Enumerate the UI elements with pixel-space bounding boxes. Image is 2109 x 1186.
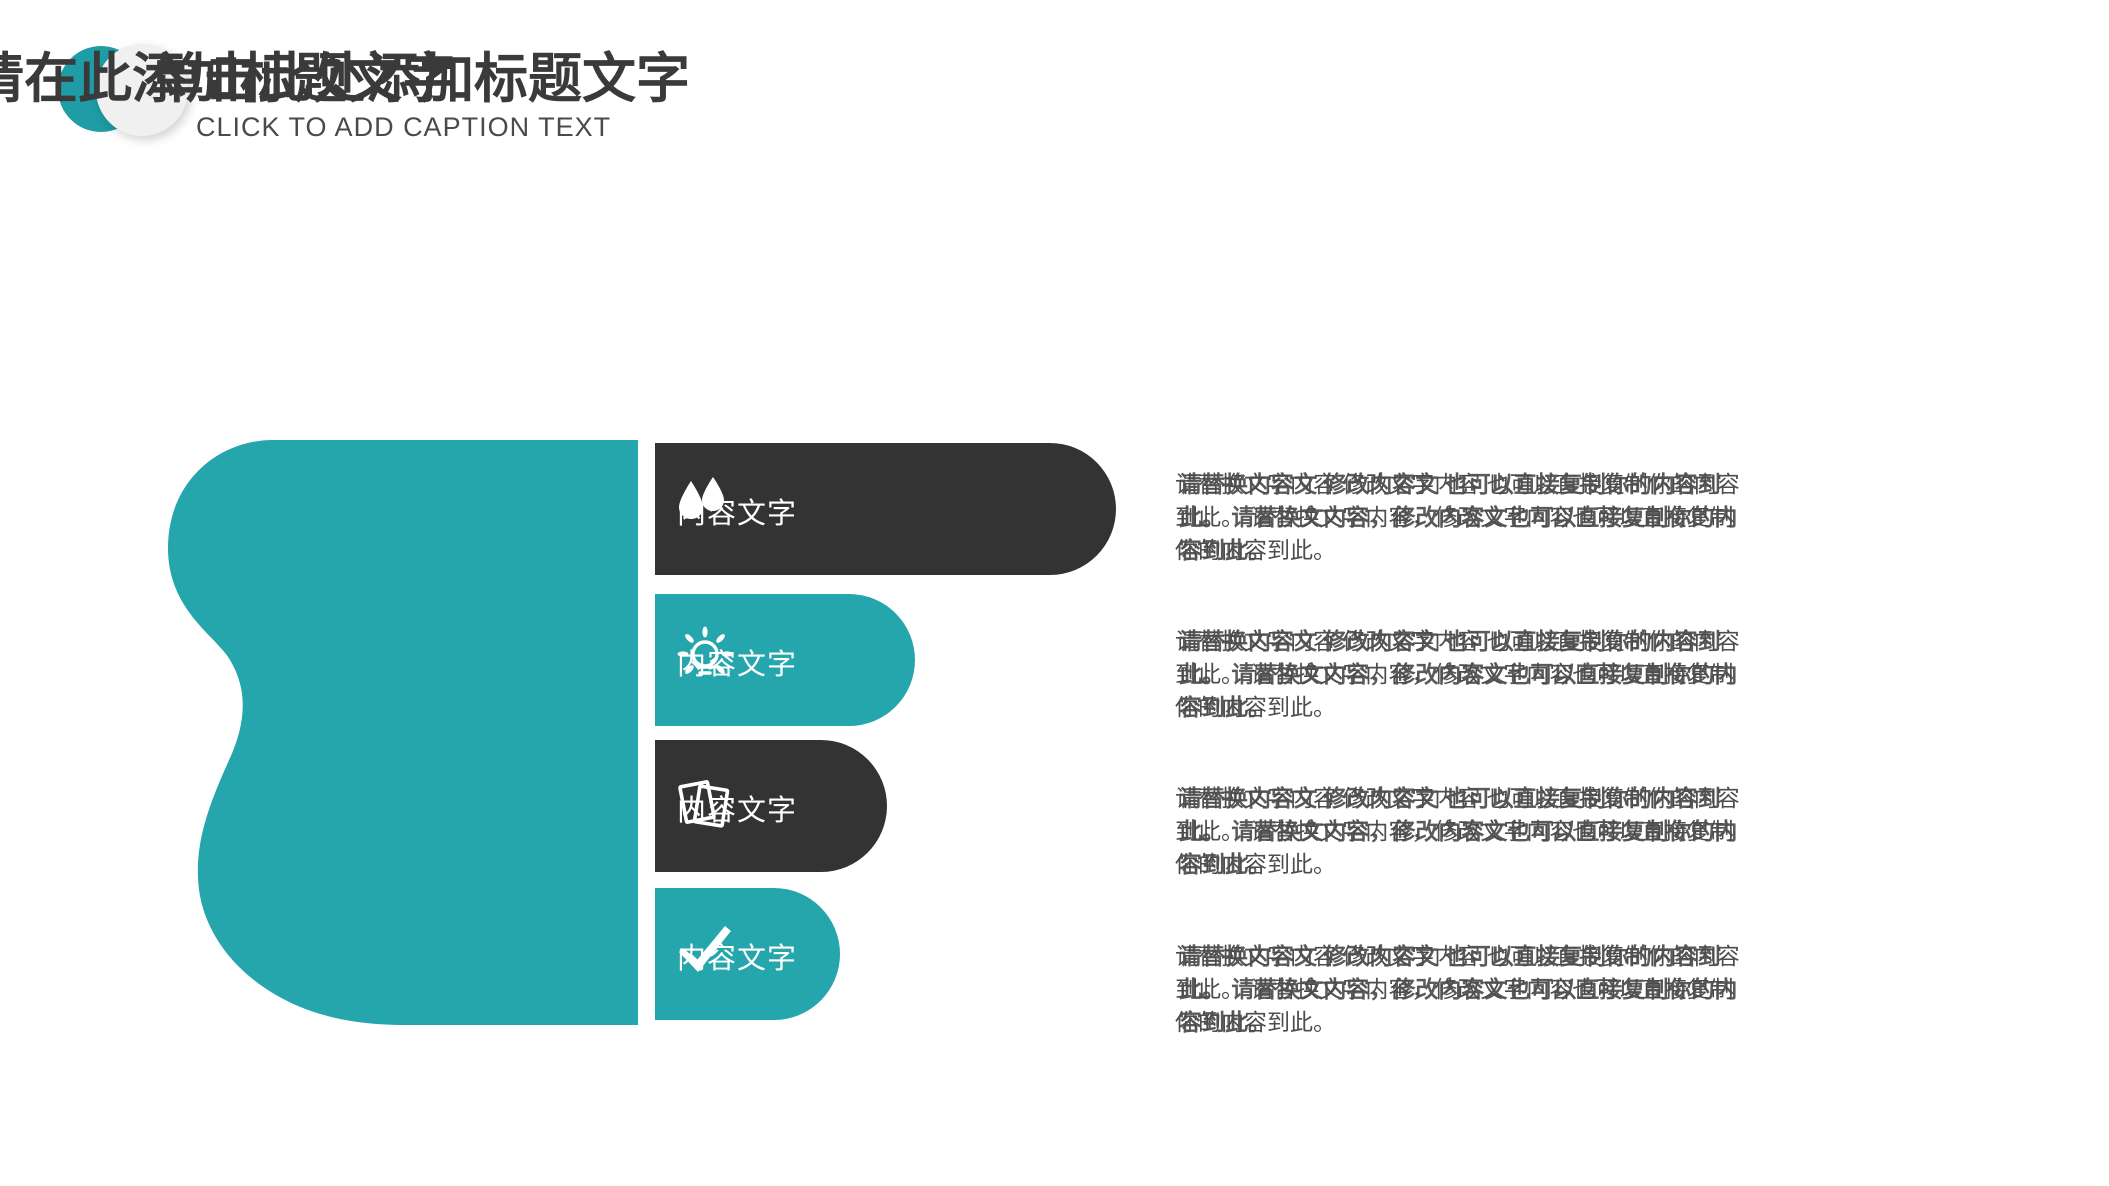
row-description-layer-b: 请替换内容文 修改内容文 也可以直接复制你的内容到此。 请替换文内容，修改内容文… bbox=[1179, 940, 1759, 1039]
row-label: 内容文字 bbox=[677, 935, 797, 977]
row-pill[interactable]: 内容文字 bbox=[655, 740, 887, 872]
row-label: 内容文字 bbox=[677, 490, 797, 532]
row-description-layer-b: 请替换内容文 修改内容文 也可以直接复制你的内容到此。 请替换文内容，修改内容文… bbox=[1179, 782, 1759, 881]
row-description-layer-b: 请替换内容文 修改内容文 也可以直接复制你的内容到此。 请替换文内容，修改内容文… bbox=[1179, 468, 1759, 567]
row-pill[interactable]: 内容文字 bbox=[655, 594, 915, 726]
row-label: 内容文字 bbox=[677, 787, 797, 829]
row-pill[interactable]: 内容文字 bbox=[655, 888, 840, 1020]
row-pill[interactable]: 内容文字 bbox=[655, 443, 1116, 575]
row-label: 内容文字 bbox=[677, 641, 797, 683]
content-rows: 内容文字 请替换文字内容 修改文字内容 也可以直接复制你的内容到此。 请替换文字… bbox=[0, 0, 2109, 1186]
row-description-layer-b: 请替换内容文 修改内容文 也可以直接复制你的内容到此。 请替换文内容，修改内容文… bbox=[1179, 625, 1759, 724]
